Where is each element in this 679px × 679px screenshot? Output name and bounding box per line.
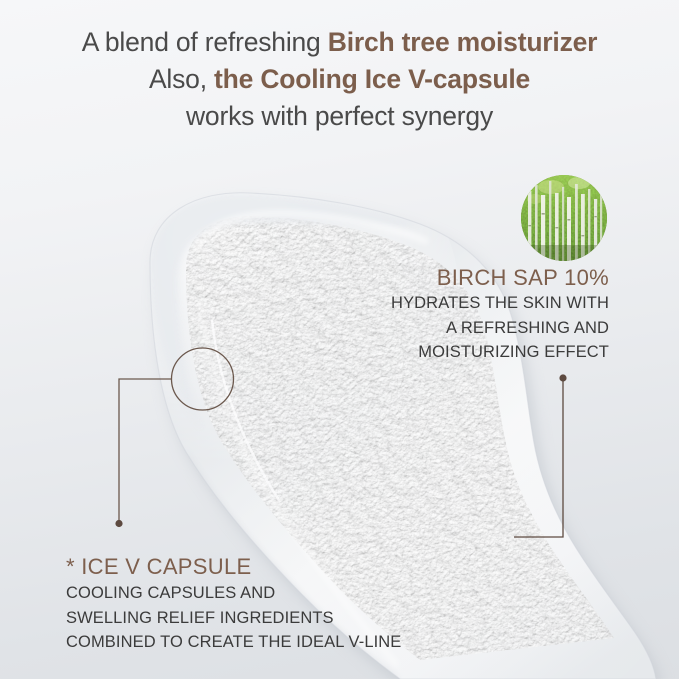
ice-v-capsule-title: * ICE V CAPSULE [66, 552, 401, 581]
birch-sap-body-line-3: MOISTURIZING EFFECT [349, 340, 609, 365]
ice-v-capsule-callout: * ICE V CAPSULE COOLING CAPSULES AND SWE… [66, 552, 401, 655]
ice-v-capsule-body-line-3: COMBINED TO CREATE THE IDEAL V-LINE [66, 630, 401, 655]
birch-sap-title: BIRCH SAP 10% [349, 264, 609, 291]
ice-capsule-leader-line [119, 379, 172, 521]
ice-capsule-zoom-circle [172, 348, 234, 410]
birch-sap-callout: BIRCH SAP 10% HYDRATES THE SKIN WITH A R… [349, 264, 609, 365]
ice-v-capsule-body-line-1: COOLING CAPSULES AND [66, 581, 401, 606]
birch-sap-leader-dot [559, 374, 566, 381]
ice-capsule-leader-dot [115, 520, 122, 527]
product-detail-image: A blend of refreshing Birch tree moistur… [0, 0, 679, 679]
birch-sap-leader-line [514, 381, 563, 537]
birch-sap-body-line-1: HYDRATES THE SKIN WITH [349, 291, 609, 316]
birch-sap-body-line-2: A REFRESHING AND [349, 316, 609, 341]
ice-v-capsule-body-line-2: SWELLING RELIEF INGREDIENTS [66, 606, 401, 631]
